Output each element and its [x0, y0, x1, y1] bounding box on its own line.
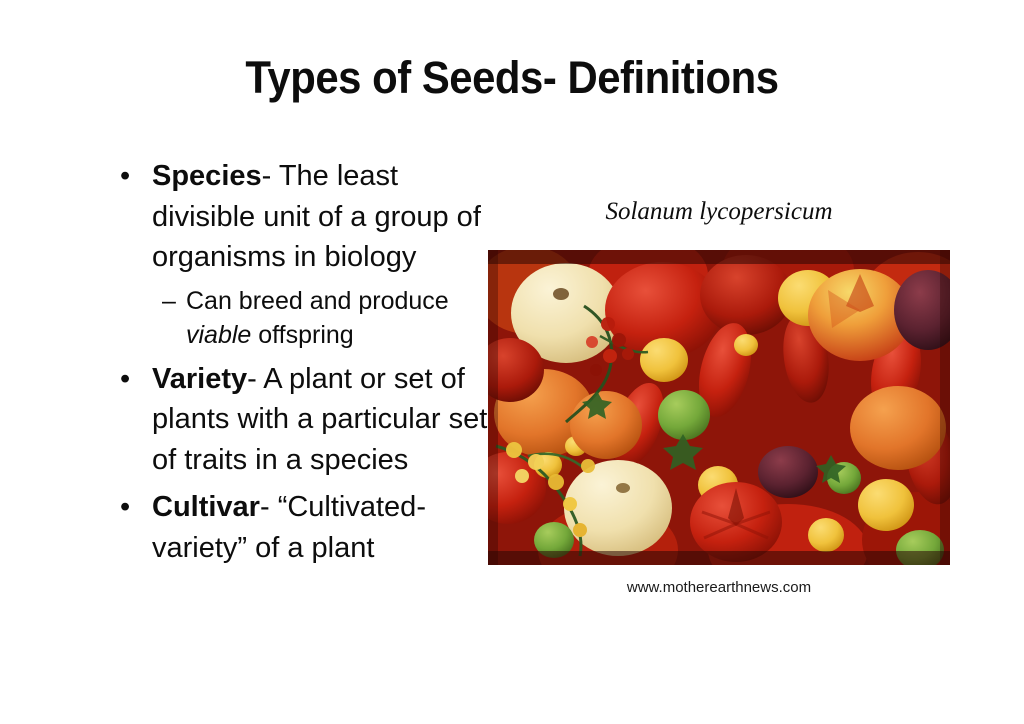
- term-species: Species: [152, 160, 262, 192]
- list-item-text: Variety- A plant or set of plants with a…: [152, 359, 504, 481]
- species-caption: Solanum lycopersicum: [488, 197, 950, 227]
- bullet-marker-icon: •: [120, 487, 130, 528]
- list-item: • Species- The least divisible unit of a…: [114, 156, 504, 278]
- sub-text-pre: Can breed and produce: [186, 287, 449, 315]
- slide-canvas: Types of Seeds- Definitions • Species- T…: [0, 0, 1024, 724]
- list-item: • Variety- A plant or set of plants with…: [114, 359, 504, 481]
- spacer: [114, 352, 504, 359]
- photo-credit: www.motherearthnews.com: [488, 578, 950, 598]
- list-item-text: Cultivar- “Cultivated-variety” of a plan…: [152, 487, 504, 568]
- tomato-photo: [488, 250, 950, 565]
- sub-list-item: – Can breed and produce viable offspring: [114, 284, 504, 352]
- dash-marker-icon: –: [162, 284, 176, 318]
- bullet-marker-icon: •: [120, 156, 130, 197]
- definitions-list: • Species- The least divisible unit of a…: [114, 156, 504, 568]
- sub-text-emphasis: viable: [186, 321, 251, 349]
- sub-list-item-text: Can breed and produce viable offspring: [186, 284, 504, 352]
- sub-text-post: offspring: [251, 321, 353, 349]
- spacer: [114, 480, 504, 487]
- term-cultivar: Cultivar: [152, 491, 260, 523]
- page-title: Types of Seeds- Definitions: [36, 52, 988, 104]
- bullet-marker-icon: •: [120, 359, 130, 400]
- list-item-text: Species- The least divisible unit of a g…: [152, 156, 504, 278]
- list-item: • Cultivar- “Cultivated-variety” of a pl…: [114, 487, 504, 568]
- term-variety: Variety: [152, 363, 247, 395]
